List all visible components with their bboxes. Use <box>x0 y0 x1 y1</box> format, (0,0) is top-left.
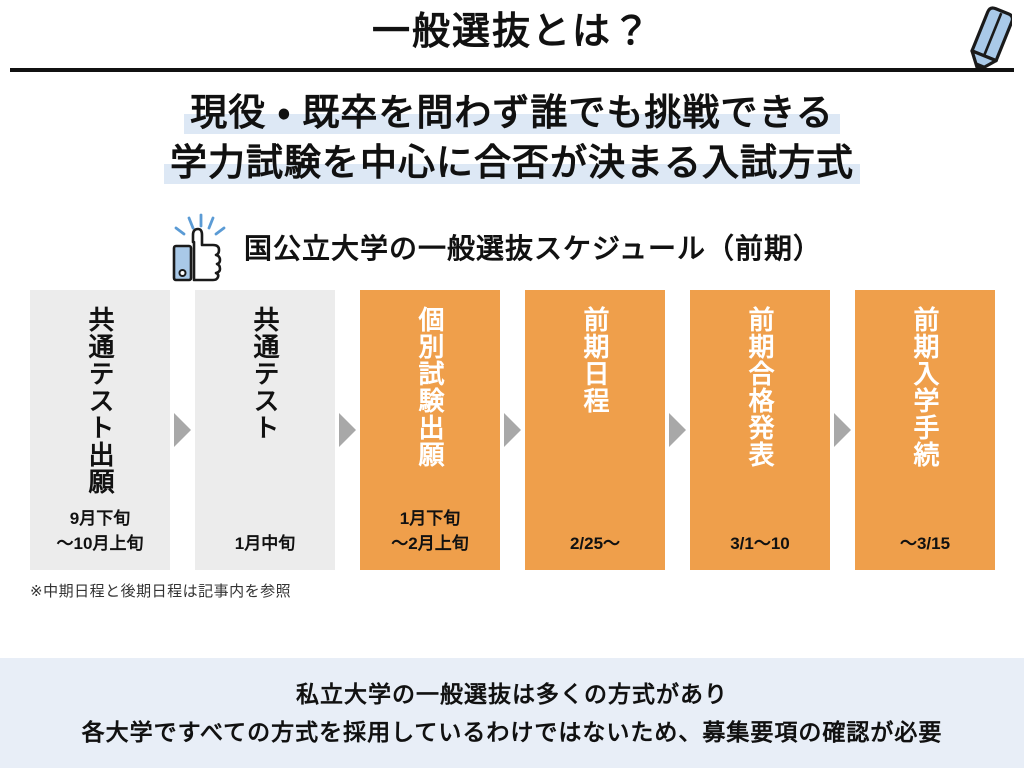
subtitle-block: 現役 ・ 既卒を問わず誰でも挑戦できる 学力試験を中心に合否が決まる入試方式 <box>0 88 1024 198</box>
flow-step-2-title: 共通テスト <box>251 306 279 502</box>
bottom-banner: 私立大学の一般選抜は多くの方式があり 各大学ですべての方式を採用しているわけでは… <box>0 658 1024 768</box>
flow-step-4-title: 前期日程 <box>581 306 609 502</box>
flow-step-5: 前期合格発表 3/1〜10 <box>690 290 830 570</box>
flow-step-1: 共通テスト出願 9月下旬 〜10月上旬 <box>30 290 170 570</box>
schedule-flow: 共通テスト出願 9月下旬 〜10月上旬 共通テスト 1月中旬 個別試験出願 1月… <box>0 290 1024 570</box>
page-title: 一般選抜とは？ <box>0 6 1024 58</box>
flow-arrow-icon-1 <box>170 290 195 570</box>
bottom-banner-line-1: 私立大学の一般選抜は多くの方式があり <box>296 675 728 713</box>
flow-step-6-date: 〜3/15 <box>855 531 995 556</box>
schedule-heading: 国公立大学の一般選抜スケジュール（前期） <box>0 210 1024 284</box>
flow-step-2: 共通テスト 1月中旬 <box>195 290 335 570</box>
header: 一般選抜とは？ <box>0 0 1024 78</box>
schedule-heading-text: 国公立大学の一般選抜スケジュール（前期） <box>244 227 822 267</box>
flow-arrow-icon-4 <box>665 290 690 570</box>
flow-step-3: 個別試験出願 1月下旬 〜2月上旬 <box>360 290 500 570</box>
subtitle-line-1: 現役 ・ 既卒を問わず誰でも挑戦できる <box>0 88 1024 138</box>
subtitle-line-2: 学力試験を中心に合否が決まる入試方式 <box>0 138 1024 188</box>
flow-arrow-icon-3 <box>500 290 525 570</box>
flow-step-6: 前期入学手続 〜3/15 <box>855 290 995 570</box>
flow-step-5-date: 3/1〜10 <box>690 531 830 556</box>
subtitle-line-2-text: 学力試験を中心に合否が決まる入試方式 <box>164 138 860 188</box>
flow-step-3-date: 1月下旬 〜2月上旬 <box>360 506 500 556</box>
flow-step-3-title: 個別試験出願 <box>416 306 444 502</box>
flow-step-1-title: 共通テスト出願 <box>86 306 114 502</box>
subtitle-line-1-text: 現役 ・ 既卒を問わず誰でも挑戦できる <box>184 88 839 138</box>
bottom-banner-line-2: 各大学ですべての方式を採用しているわけではないため、募集要項の確認が必要 <box>82 713 943 751</box>
pencil-icon <box>954 2 1012 72</box>
flow-arrow-icon-5 <box>830 290 855 570</box>
flow-step-4-date: 2/25〜 <box>525 531 665 556</box>
flow-step-6-title: 前期入学手続 <box>911 306 939 502</box>
flow-step-2-date: 1月中旬 <box>195 531 335 556</box>
flow-step-5-title: 前期合格発表 <box>746 306 774 502</box>
title-divider <box>10 68 1014 72</box>
flow-step-4: 前期日程 2/25〜 <box>525 290 665 570</box>
schedule-footnote: ※中期日程と後期日程は記事内を参照 <box>0 580 1024 601</box>
flow-step-1-date: 9月下旬 〜10月上旬 <box>30 506 170 556</box>
flow-arrow-icon-2 <box>335 290 360 570</box>
thumbs-up-icon <box>168 212 230 282</box>
